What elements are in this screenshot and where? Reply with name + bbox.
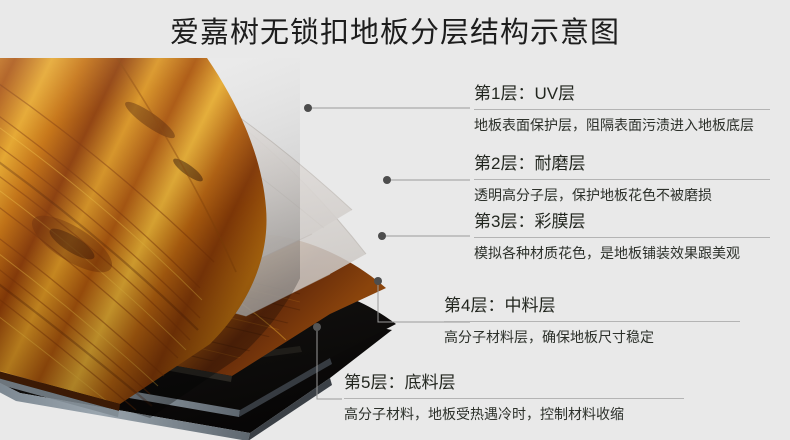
layer-3-rule	[474, 237, 770, 238]
page-title: 爱嘉树无锁扣地板分层结构示意图	[0, 14, 790, 52]
layer-4-rule	[444, 321, 740, 322]
layer-2-rule	[474, 179, 770, 180]
layer-4-description: 高分子材料层，确保地板尺寸稳定	[444, 327, 740, 348]
layer-1-title: 第1层：UV层	[474, 82, 770, 109]
layer-5-title: 第5层：底料层	[344, 371, 684, 398]
layer-1-rule	[474, 109, 770, 110]
layer-3-description: 模拟各种材质花色，是地板铺装效果跟美观	[474, 243, 770, 264]
annotation-layer-4: 第4层：中料层 高分子材料层，确保地板尺寸稳定	[444, 294, 740, 348]
layer-4-title: 第4层：中料层	[444, 294, 740, 321]
layer-2-title: 第2层：耐磨层	[474, 152, 770, 179]
annotation-layer-5: 第5层：底料层 高分子材料，地板受热遇冷时，控制材料收缩	[344, 371, 684, 425]
layer-5-rule	[344, 398, 684, 399]
diagram-canvas: 爱嘉树无锁扣地板分层结构示意图	[0, 0, 790, 440]
layer-1-description: 地板表面保护层，阻隔表面污渍进入地板底层	[474, 115, 770, 136]
annotation-layer-2: 第2层：耐磨层 透明高分子层，保护地板花色不被磨损	[474, 152, 770, 206]
layer-5-description: 高分子材料，地板受热遇冷时，控制材料收缩	[344, 404, 684, 425]
layer-3-title: 第3层：彩膜层	[474, 210, 770, 237]
annotation-layer-3: 第3层：彩膜层 模拟各种材质花色，是地板铺装效果跟美观	[474, 210, 770, 264]
annotation-layer-1: 第1层：UV层 地板表面保护层，阻隔表面污渍进入地板底层	[474, 82, 770, 136]
layer-2-description: 透明高分子层，保护地板花色不被磨损	[474, 185, 770, 206]
